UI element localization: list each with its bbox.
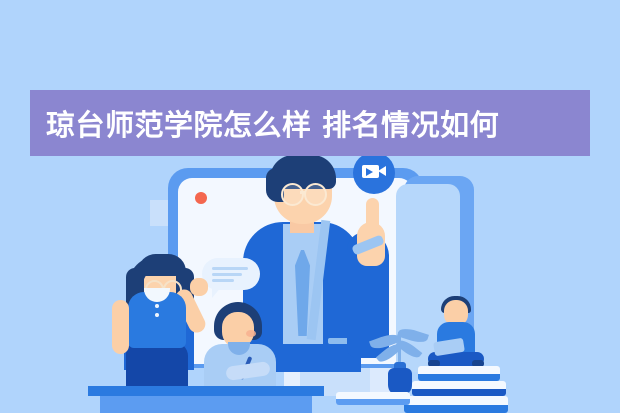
- video-camera-badge[interactable]: [353, 152, 395, 194]
- bubble-line: [212, 273, 242, 276]
- desk-top: [88, 386, 324, 396]
- chat-bubble-tail: [212, 286, 222, 298]
- book: [404, 396, 508, 413]
- bubble-line: [212, 267, 248, 270]
- woman-button: [155, 304, 159, 308]
- book: [412, 381, 506, 396]
- glasses-bridge: [300, 191, 306, 194]
- pointing-finger-icon: [366, 198, 379, 234]
- boy-cheek: [246, 330, 256, 337]
- glasses-icon: [281, 183, 304, 206]
- book-spine: [336, 399, 410, 405]
- video-camera-lens-icon: [378, 166, 386, 176]
- glasses-icon: [304, 183, 327, 206]
- page-title: 琼台师范学院怎么样 排名情况如何: [46, 102, 499, 144]
- book-spine: [412, 389, 506, 396]
- book-pages: [404, 396, 508, 405]
- bubble-line: [212, 279, 234, 282]
- book-spine: [404, 405, 508, 413]
- plant-stem: [398, 332, 401, 366]
- video-camera-icon: [362, 165, 379, 178]
- chat-bubble: [202, 258, 260, 290]
- book-spine: [418, 374, 500, 381]
- illustration-online-education: [0, 0, 620, 413]
- desk-front: [100, 396, 312, 413]
- screenshot-canvas: 琼台师范学院怎么样 排名情况如何: [0, 0, 620, 413]
- book: [418, 366, 500, 381]
- woman-arm: [112, 300, 129, 354]
- woman-button: [155, 313, 159, 317]
- book: [336, 392, 410, 405]
- woman-hand: [190, 278, 208, 296]
- record-indicator-dot: [195, 192, 207, 204]
